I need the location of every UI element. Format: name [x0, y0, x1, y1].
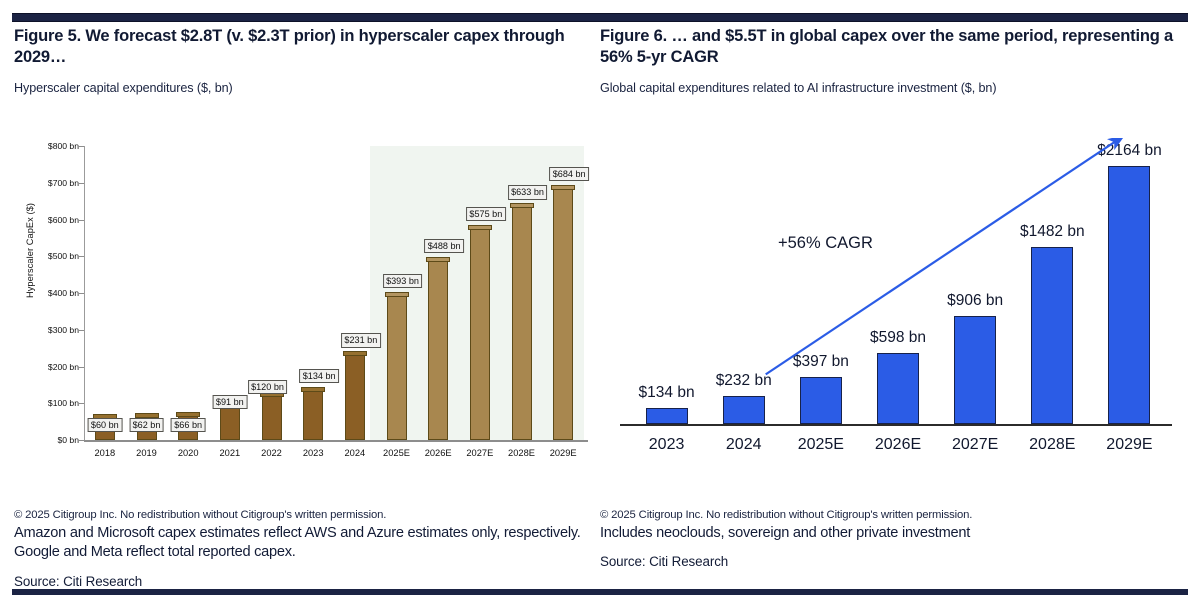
- figure-5-bar-cap: [176, 412, 200, 417]
- figure-6-subtitle: Global capital expenditures related to A…: [600, 81, 1190, 95]
- figure-6-bar[interactable]: [954, 316, 996, 424]
- figure-5-copyright: © 2025 Citigroup Inc. No redistribution …: [14, 509, 594, 521]
- figure-5-y-tick-label: $600 bn: [48, 215, 79, 225]
- figure-5-data-label: $231 bn: [341, 333, 381, 347]
- figure-5-y-tick-mark: [79, 403, 84, 404]
- figure-6-x-tick-label: 2023: [649, 436, 685, 454]
- figure-page: Figure 5. We forecast $2.8T (v. $2.3T pr…: [0, 0, 1200, 608]
- figure-6-bar[interactable]: [723, 396, 765, 424]
- figure-6-plot-area: $134 bn2023$232 bn2024$397 bn2025E$598 b…: [628, 138, 1168, 424]
- figure-6-x-tick-label: 2028E: [1029, 436, 1075, 454]
- figure-5-data-label: $575 bn: [466, 207, 506, 221]
- figure-5-chart: Hyperscaler CapEx ($) $0 bn$100 bn$200 b…: [14, 138, 594, 488]
- figure-5-bar-cap: [343, 351, 367, 356]
- figure-5-subtitle: Hyperscaler capital expenditures ($, bn): [14, 81, 594, 95]
- figure-5-x-tick-label: 2021: [219, 448, 240, 458]
- figure-6-x-axis: [620, 424, 1172, 426]
- figure-6-data-label: $598 bn: [870, 329, 926, 347]
- figure-5-bar[interactable]: [262, 396, 282, 440]
- figure-6-x-tick-label: 2026E: [875, 436, 921, 454]
- figure-5-x-tick-label: 2024: [344, 448, 365, 458]
- figure-5-x-tick-label: 2018: [94, 448, 115, 458]
- figure-5-x-tick-label: 2026E: [425, 448, 452, 458]
- figure-5-x-tick-label: 2029E: [550, 448, 577, 458]
- figure-5-x-tick-label: 2027E: [466, 448, 493, 458]
- figure-5-x-tick-label: 2025E: [383, 448, 410, 458]
- figure-5-data-label: $91 bn: [212, 395, 247, 409]
- figure-5-data-label: $393 bn: [383, 274, 423, 288]
- figure-5-bar[interactable]: [387, 296, 407, 440]
- figure-5-y-tick-label: $100 bn: [48, 398, 79, 408]
- figure-5-bar-cap: [301, 387, 325, 392]
- figure-6-data-label: $232 bn: [716, 372, 772, 390]
- figure-6-bar[interactable]: [877, 353, 919, 424]
- figure-5-y-tick-label: $700 bn: [48, 178, 79, 188]
- figure-6-notes: Includes neoclouds, sovereign and other …: [600, 524, 1190, 543]
- figure-5-y-tick-label: $500 bn: [48, 251, 79, 261]
- figure-5-y-tick-label: $400 bn: [48, 288, 79, 298]
- figure-5-x-tick-label: 2028E: [508, 448, 535, 458]
- figure-5-y-tick-mark: [79, 330, 84, 331]
- figure-5-data-label: $134 bn: [299, 369, 339, 383]
- figure-5-data-label: $488 bn: [424, 239, 464, 253]
- figure-6-x-tick-label: 2025E: [798, 436, 844, 454]
- figure-5-y-tick-label: $0 bn: [57, 435, 79, 445]
- figure-5-y-tick-mark: [79, 183, 84, 184]
- figure-5-title: Figure 5. We forecast $2.8T (v. $2.3T pr…: [14, 26, 594, 69]
- figure-6-source: Source: Citi Research: [600, 554, 1190, 569]
- figure-6-data-label: $134 bn: [639, 384, 695, 402]
- figure-6-x-tick-label: 2029E: [1106, 436, 1152, 454]
- figure-6-bar[interactable]: [1108, 166, 1150, 424]
- figure-5-bar-cap: [510, 203, 534, 208]
- figure-6-title: Figure 6. … and $5.5T in global capex ov…: [600, 26, 1190, 69]
- figure-5-y-tick-mark: [79, 220, 84, 221]
- figure-5-y-tick-mark: [79, 440, 84, 441]
- figure-6-bar[interactable]: [1031, 247, 1073, 424]
- figure-5-notes: Amazon and Microsoft capex estimates ref…: [14, 524, 594, 563]
- figure-5-bar[interactable]: [512, 207, 532, 440]
- figure-5-bar[interactable]: [553, 189, 573, 440]
- panel-figure-6: Figure 6. … and $5.5T in global capex ov…: [600, 26, 1190, 586]
- figure-6-data-label: $397 bn: [793, 353, 849, 371]
- figure-5-x-tick-label: 2022: [261, 448, 282, 458]
- figure-5-y-tick-label: $800 bn: [48, 141, 79, 151]
- figure-6-bar[interactable]: [646, 408, 688, 424]
- figure-6-copyright: © 2025 Citigroup Inc. No redistribution …: [600, 509, 1190, 521]
- figure-5-x-axis: [84, 440, 588, 442]
- figure-6-footer: © 2025 Citigroup Inc. No redistribution …: [600, 509, 1190, 569]
- figure-5-source: Source: Citi Research: [14, 574, 594, 589]
- figure-5-y-tick-mark: [79, 367, 84, 368]
- figure-5-bar[interactable]: [345, 355, 365, 440]
- figure-5-y-tick-mark: [79, 293, 84, 294]
- figure-5-bar[interactable]: [220, 407, 240, 440]
- figure-6-x-tick-label: 2024: [726, 436, 762, 454]
- figure-5-bar[interactable]: [428, 261, 448, 440]
- figure-6-x-tick-label: 2027E: [952, 436, 998, 454]
- figure-6-data-label: $906 bn: [947, 292, 1003, 310]
- figure-5-y-tick-mark: [79, 146, 84, 147]
- figure-6-data-label: $2164 bn: [1097, 142, 1162, 160]
- figure-5-bar-cap: [551, 185, 575, 190]
- figure-5-bar[interactable]: [303, 391, 323, 440]
- figure-5-data-label: $60 bn: [87, 418, 122, 432]
- top-rule: [12, 13, 1188, 22]
- figure-6-chart: $134 bn2023$232 bn2024$397 bn2025E$598 b…: [600, 134, 1190, 494]
- figure-6-data-label: $1482 bn: [1020, 223, 1085, 241]
- figure-5-data-label: $120 bn: [248, 380, 288, 394]
- figure-6-bar[interactable]: [800, 377, 842, 424]
- figure-5-footer: © 2025 Citigroup Inc. No redistribution …: [14, 509, 594, 589]
- figure-5-x-tick-label: 2020: [178, 448, 199, 458]
- cagr-annotation-label: +56% CAGR: [778, 234, 873, 253]
- figure-5-y-tick-mark: [79, 256, 84, 257]
- figure-5-y-tick-label: $300 bn: [48, 325, 79, 335]
- figure-5-y-tick-label: $200 bn: [48, 362, 79, 372]
- figure-5-plot-area: $0 bn$100 bn$200 bn$300 bn$400 bn$500 bn…: [84, 146, 584, 440]
- figure-5-bar[interactable]: [470, 229, 490, 440]
- figure-5-data-label: $684 bn: [549, 167, 589, 181]
- bottom-rule: [12, 589, 1188, 595]
- figure-5-y-axis-title: Hyperscaler CapEx ($): [25, 203, 35, 298]
- figure-5-x-tick-label: 2019: [136, 448, 157, 458]
- figure-5-data-label: $66 bn: [171, 418, 206, 432]
- figure-5-data-label: $62 bn: [129, 418, 164, 432]
- figure-5-bar-cap: [426, 257, 450, 262]
- panel-figure-5: Figure 5. We forecast $2.8T (v. $2.3T pr…: [14, 26, 594, 586]
- figure-5-x-tick-label: 2023: [303, 448, 324, 458]
- figure-5-bar-cap: [468, 225, 492, 230]
- figure-5-bar-cap: [385, 292, 409, 297]
- figure-5-data-label: $633 bn: [508, 185, 548, 199]
